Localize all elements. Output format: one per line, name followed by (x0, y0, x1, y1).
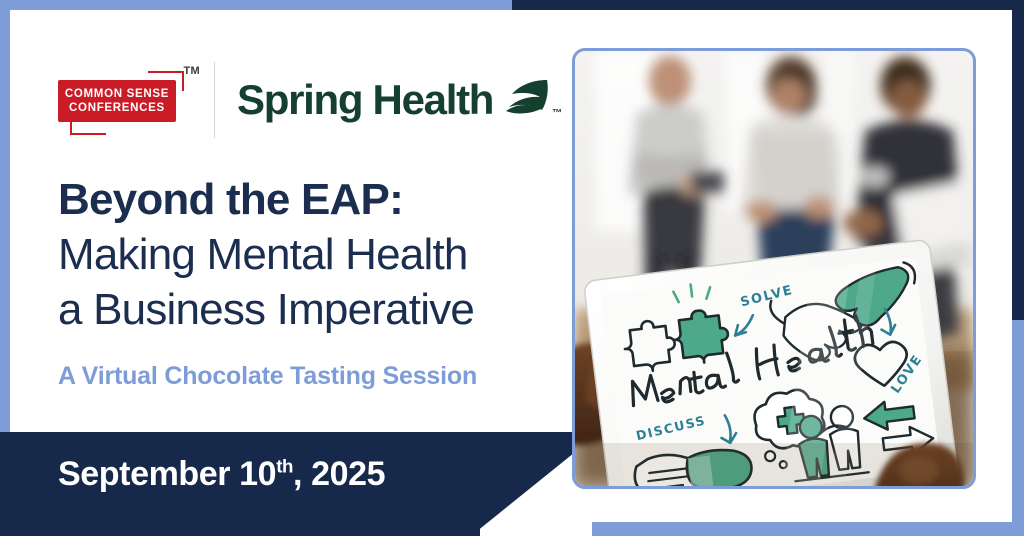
event-date-year: , 2025 (293, 455, 385, 493)
spring-health-trademark: ™ (552, 108, 562, 119)
bottom-blue-strip (592, 522, 1024, 536)
subtitle: A Virtual Chocolate Tasting Session (58, 362, 477, 391)
headline-line-1: Beyond the EAP: (58, 172, 578, 227)
top-navy-strip (512, 0, 1024, 10)
common-sense-conferences-logo: COMMON SENSE CONFERENCES TM (58, 63, 198, 137)
common-sense-trademark: TM (184, 65, 200, 77)
top-blue-strip (0, 0, 512, 10)
logo-row: COMMON SENSE CONFERENCES TM Spring Healt… (58, 58, 562, 142)
left-blue-strip (0, 0, 10, 432)
event-date-monthday: September 10 (58, 455, 276, 493)
event-date-ordinal: th (276, 456, 293, 477)
photo-card: SOLVE (572, 48, 976, 489)
spring-health-leaf-icon (503, 78, 549, 123)
photo-illustration: SOLVE (575, 51, 973, 486)
right-navy-strip (1012, 0, 1024, 320)
headline-line-2: Making Mental Health (58, 227, 578, 282)
spring-health-wordmark: Spring Health (237, 79, 493, 121)
common-sense-logo-box: COMMON SENSE CONFERENCES (58, 80, 176, 122)
event-date: September 10th, 2025 (58, 455, 385, 494)
headline: Beyond the EAP: Making Mental Health a B… (58, 172, 578, 337)
common-sense-logo-line2: CONFERENCES (69, 101, 165, 115)
right-blue-strip (1012, 320, 1024, 536)
webinar-promo-poster: COMMON SENSE CONFERENCES TM Spring Healt… (0, 0, 1024, 536)
logo-divider (214, 62, 215, 138)
common-sense-logo-line1: COMMON SENSE (65, 87, 169, 101)
photo-image: SOLVE (575, 51, 973, 486)
headline-line-3: a Business Imperative (58, 282, 578, 337)
spring-health-logo: Spring Health ™ (237, 78, 562, 123)
